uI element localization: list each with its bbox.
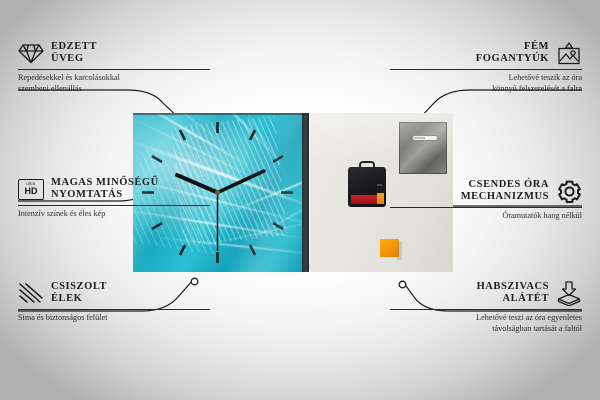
mechanism-dot (377, 184, 382, 186)
feature-polished-edges: CSISZOLT ÉLEK Sima és biztonságos felüle… (18, 280, 210, 324)
ultra-hd-icon: ultra HD (18, 176, 44, 202)
feature-divider (390, 69, 582, 70)
hanger-slot (412, 135, 438, 141)
mechanism-hook (359, 161, 375, 169)
feature-foam-backing: HABSZIVACS ALÁTÉT Lehetővé teszi az óra … (390, 280, 582, 334)
feature-tempered-glass: EDZETT ÜVEG Repedésekkel és karcolásokka… (18, 40, 210, 94)
feature-silent-mechanism: CSENDES ÓRA MECHANIZMUS Óramutatók hang … (390, 178, 582, 222)
feature-divider (18, 205, 210, 206)
infographic-canvas: EDZETT ÜVEG Repedésekkel és karcolásokka… (0, 0, 600, 400)
clock-mechanism (348, 167, 386, 207)
clock-top-edge (133, 113, 309, 115)
feature-title: EDZETT ÜVEG (51, 41, 97, 66)
feature-description: Lehetővé teszik az óra könnyű felszerelé… (390, 73, 582, 94)
feature-title: FÉM FOGANTYÚK (476, 41, 549, 66)
foam-pad (380, 239, 399, 257)
metal-hanger (399, 122, 447, 174)
feature-description: Lehetővé teszi az óra egyenletes távolsá… (390, 313, 582, 334)
feature-description: Óramutatók hang nélkül (390, 211, 582, 222)
feature-high-quality-print: ultra HD MAGAS MINŐSÉGŰ NYOMTATÁS Intenz… (18, 176, 210, 220)
polished-edges-icon (18, 280, 44, 306)
feature-title: HABSZIVACS ALÁTÉT (477, 281, 549, 306)
feature-title: CSENDES ÓRA MECHANIZMUS (461, 179, 549, 204)
feature-metal-handles: FÉM FOGANTYÚK Lehetővé teszik az óra kön… (390, 40, 582, 94)
press-down-pad-icon (556, 280, 582, 306)
feature-description: Repedésekkel és karcolásokkal szembeni e… (18, 73, 210, 94)
feature-description: Intenzív színek és éles kép (18, 209, 210, 220)
feature-title: CSISZOLT ÉLEK (51, 281, 107, 306)
feature-divider (390, 309, 582, 310)
clock-side-edge (302, 113, 309, 272)
diamond-icon (18, 40, 44, 66)
feature-title: MAGAS MINŐSÉGŰ NYOMTATÁS (51, 177, 159, 202)
mechanism-label (351, 195, 383, 204)
feature-divider (18, 69, 210, 70)
ultra-hd-icon-label: HD (25, 187, 38, 196)
gear-icon (556, 178, 582, 204)
picture-hanger-icon (556, 40, 582, 66)
feature-divider (18, 309, 210, 310)
feature-divider (390, 207, 582, 208)
feature-description: Sima és biztonságos felület (18, 313, 210, 324)
